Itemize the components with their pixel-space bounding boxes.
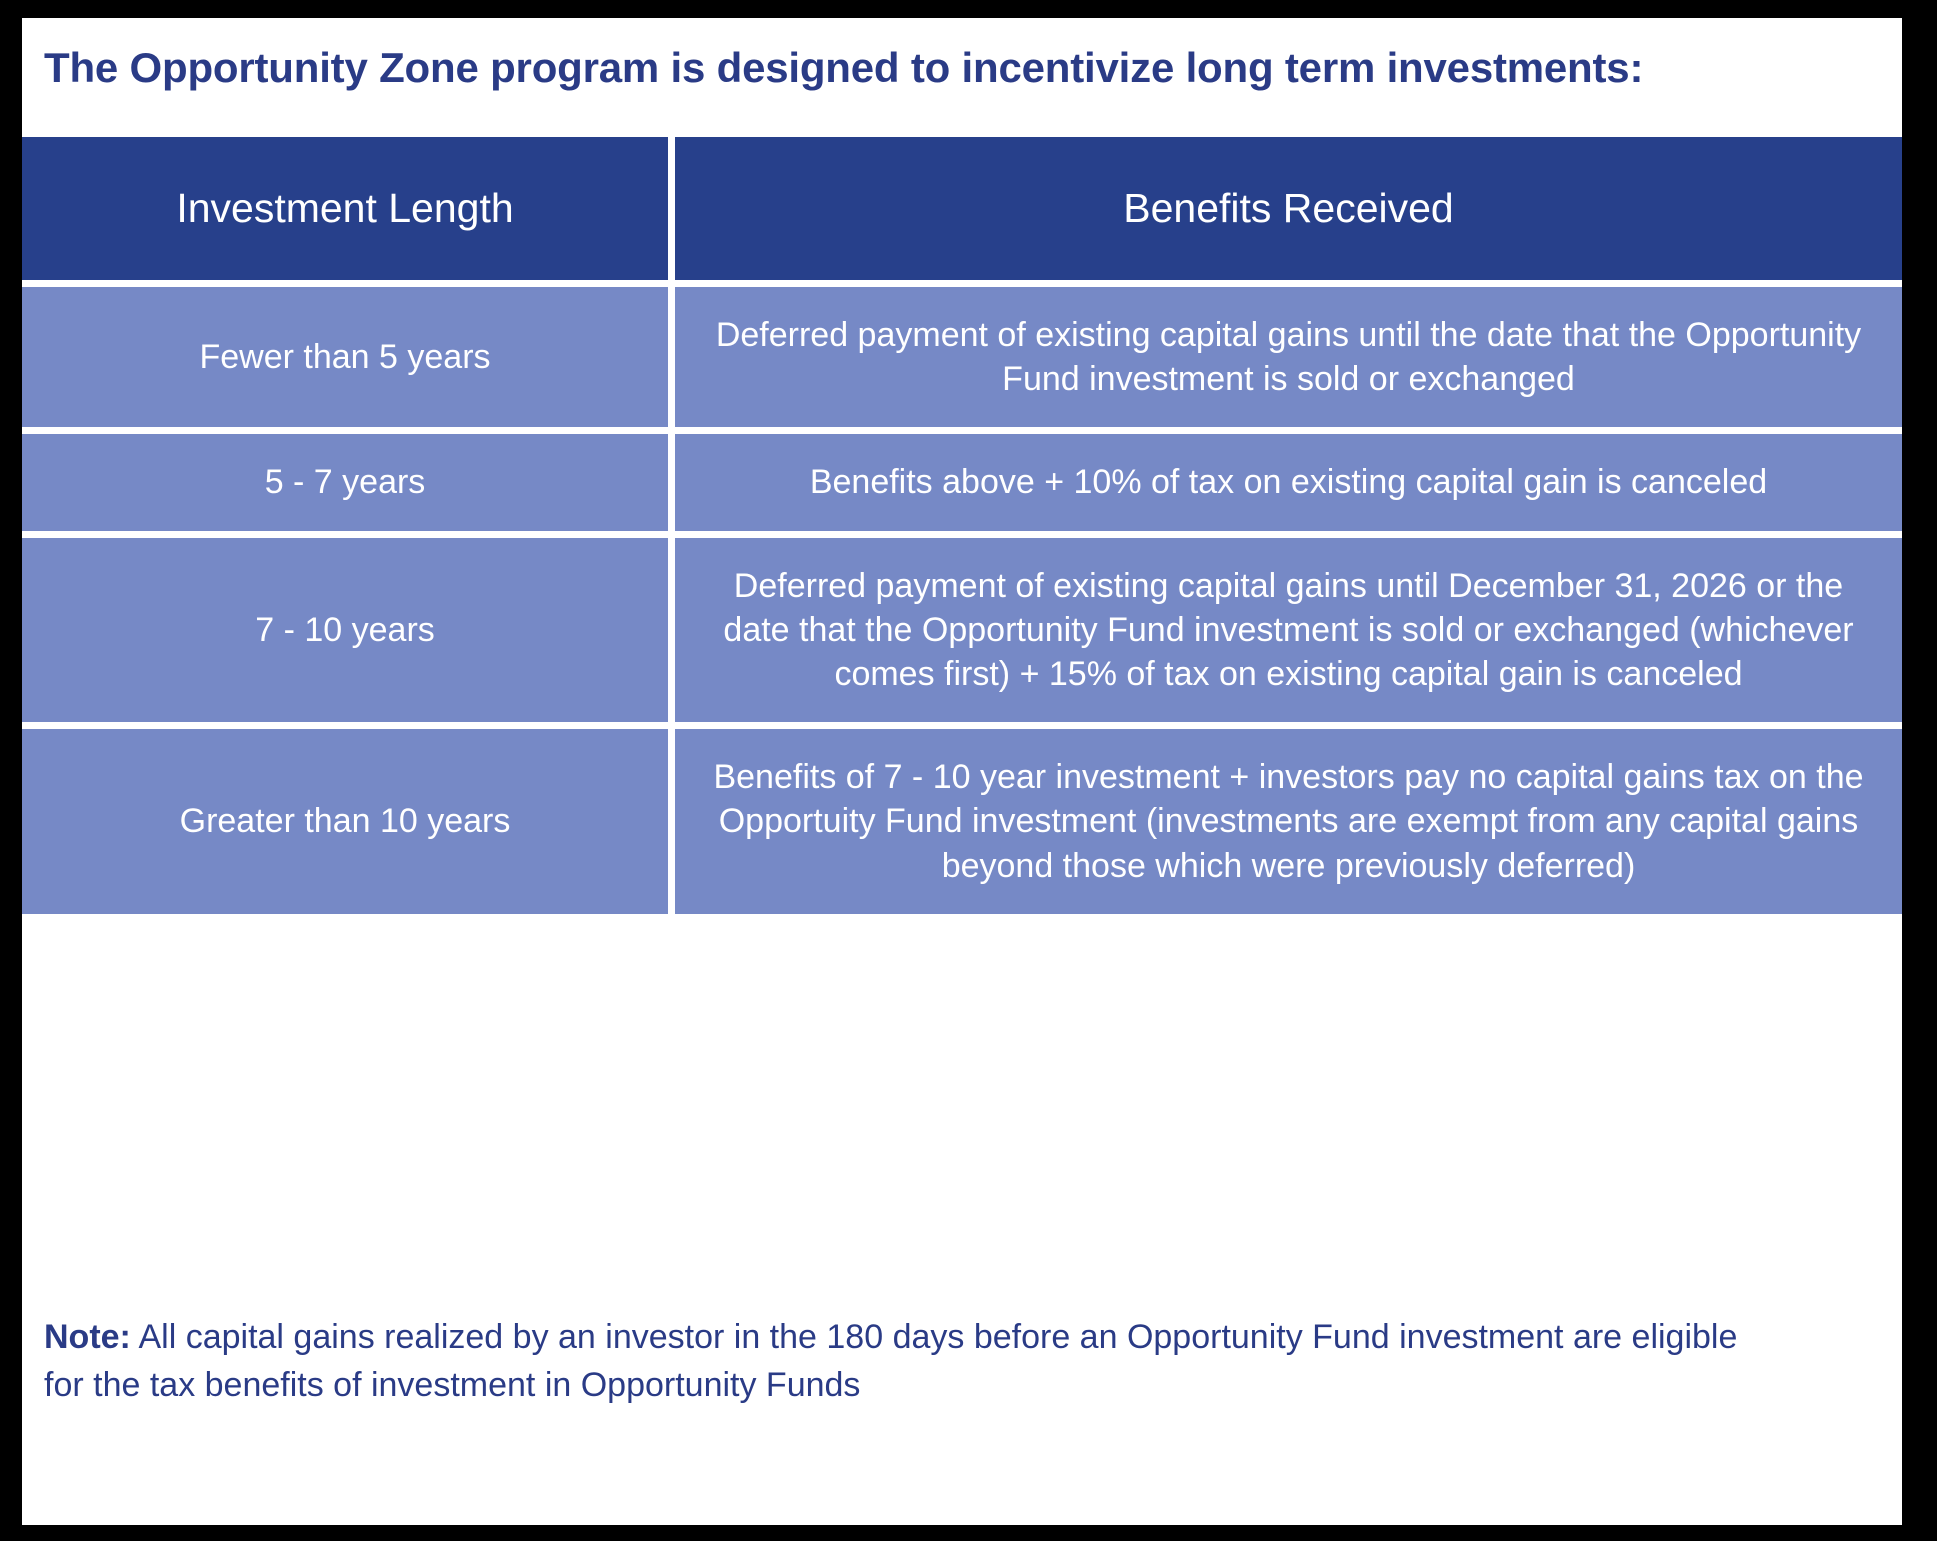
page-title: The Opportunity Zone program is designed… — [22, 18, 1902, 92]
table-row: Greater than 10 years Benefits of 7 - 10… — [22, 729, 1902, 914]
footnote: Note: All capital gains realized by an i… — [44, 1313, 1744, 1410]
cell-benefits-received: Deferred payment of existing capital gai… — [675, 538, 1902, 730]
content-frame: The Opportunity Zone program is designed… — [22, 18, 1902, 1525]
table-row: 5 - 7 years Benefits above + 10% of tax … — [22, 434, 1902, 537]
cell-benefits-received: Benefits of 7 - 10 year investment + inv… — [675, 729, 1902, 914]
table-header-row: Investment Length Benefits Received — [22, 137, 1902, 287]
cell-investment-length: 7 - 10 years — [22, 538, 675, 730]
cell-investment-length: 5 - 7 years — [22, 434, 675, 537]
table-row: 7 - 10 years Deferred payment of existin… — [22, 538, 1902, 730]
cell-investment-length: Fewer than 5 years — [22, 287, 675, 434]
column-header-investment-length: Investment Length — [22, 137, 675, 287]
footnote-label: Note: — [44, 1318, 131, 1356]
footnote-text: All capital gains realized by an investo… — [44, 1318, 1737, 1404]
opportunity-zone-benefits-table: Investment Length Benefits Received Fewe… — [22, 137, 1902, 914]
cell-benefits-received: Benefits above + 10% of tax on existing … — [675, 434, 1902, 537]
column-header-benefits-received: Benefits Received — [675, 137, 1902, 287]
cell-investment-length: Greater than 10 years — [22, 729, 675, 914]
table-row: Fewer than 5 years Deferred payment of e… — [22, 287, 1902, 434]
cell-benefits-received: Deferred payment of existing capital gai… — [675, 287, 1902, 434]
